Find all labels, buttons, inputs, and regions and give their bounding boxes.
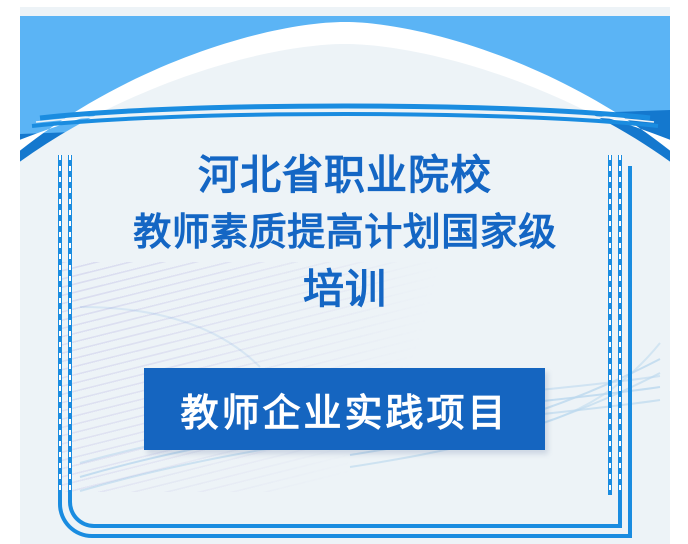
- title-line-2: 教师素质提高计划国家级: [68, 204, 622, 261]
- title-line-3: 培训: [68, 261, 622, 318]
- subtitle-badge: 教师企业实践项目: [144, 368, 545, 450]
- rail-dash-pattern: [59, 155, 61, 495]
- page-title: 河北省职业院校 教师素质提高计划国家级 培训: [68, 147, 622, 318]
- poster-root: 河北省职业院校 教师素质提高计划国家级 培训 教师企业实践项目: [0, 0, 688, 544]
- header-banner-overlay: [20, 16, 670, 166]
- subtitle-badge-label: 教师企业实践项目: [180, 382, 508, 437]
- title-line-1: 河北省职业院校: [68, 147, 622, 204]
- header-banner-graphic-overlay: [20, 16, 670, 166]
- dashed-rail-icon-left-outer: [58, 155, 62, 495]
- poster-card: 河北省职业院校 教师素质提高计划国家级 培训 教师企业实践项目: [20, 7, 670, 544]
